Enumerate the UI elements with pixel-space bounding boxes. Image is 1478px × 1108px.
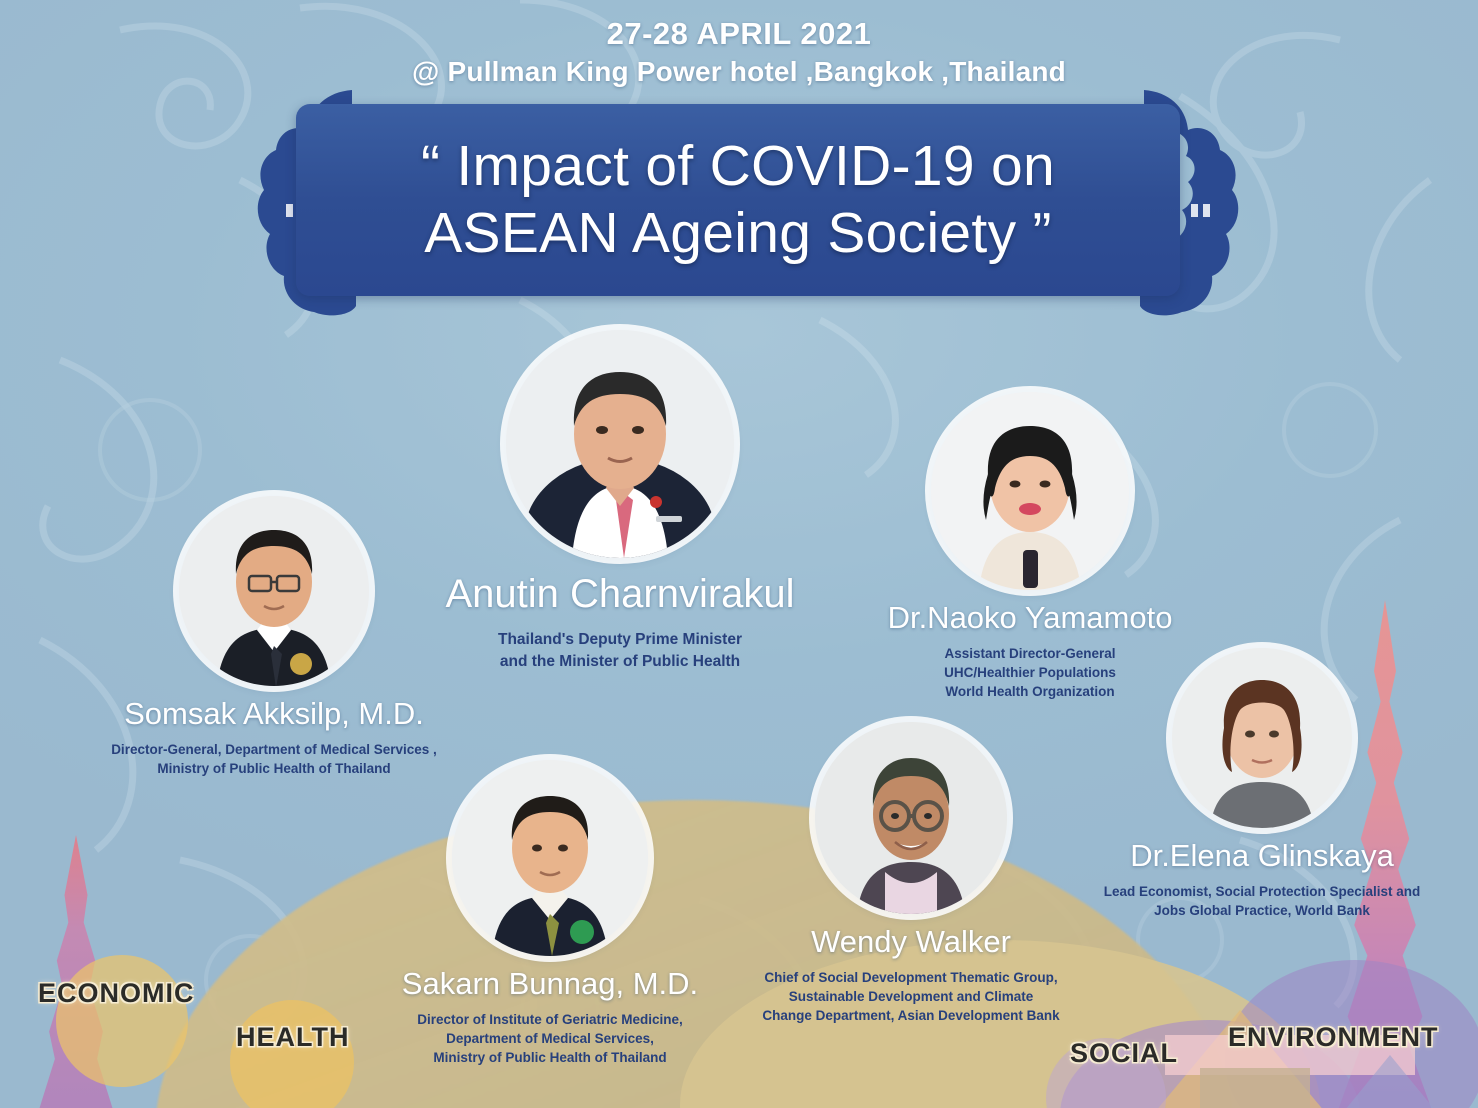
conference-poster: 27-28 APRIL 2021 @ Pullman King Power ho… — [0, 0, 1478, 1108]
speaker-card-elena-glinskaya: Dr.Elena Glinskaya Lead Economist, Socia… — [1062, 648, 1462, 920]
speaker-name-somsak-akksilp: Somsak Akksilp, M.D. — [64, 696, 484, 732]
role-line: Change Department, Asian Development Ban… — [718, 1006, 1104, 1025]
avatar-naoko-yamamoto — [931, 392, 1129, 590]
speaker-role-sakarn-bunnag: Director of Institute of Geriatric Medic… — [360, 1010, 740, 1067]
avatar-elena-glinskaya — [1172, 648, 1352, 828]
role-line: Ministry of Public Health of Thailand — [360, 1048, 740, 1067]
portrait-naoko-yamamoto — [931, 392, 1129, 590]
poster-title-line1: “ Impact of COVID-19 on — [421, 133, 1055, 200]
portrait-anutin-charnvirakul — [506, 330, 734, 558]
speaker-name-naoko-yamamoto: Dr.Naoko Yamamoto — [850, 600, 1210, 636]
role-line: Chief of Social Development Thematic Gro… — [718, 968, 1104, 987]
speaker-name-wendy-walker: Wendy Walker — [718, 924, 1104, 960]
role-line: Jobs Global Practice, World Bank — [1062, 901, 1462, 920]
event-venue: @ Pullman King Power hotel ,Bangkok ,Tha… — [0, 56, 1478, 88]
title-banner: “ Impact of COVID-19 on ASEAN Ageing Soc… — [296, 104, 1180, 296]
category-label-social: SOCIAL — [1070, 1038, 1178, 1069]
role-line: Lead Economist, Social Protection Specia… — [1062, 882, 1462, 901]
role-line: Director-General, Department of Medical … — [64, 740, 484, 759]
portrait-elena-glinskaya — [1172, 648, 1352, 828]
speaker-name-elena-glinskaya: Dr.Elena Glinskaya — [1062, 838, 1462, 874]
avatar-wendy-walker — [815, 722, 1007, 914]
event-header: 27-28 APRIL 2021 @ Pullman King Power ho… — [0, 18, 1478, 88]
category-label-economic: ECONOMIC — [38, 978, 195, 1009]
economic-label-circle — [56, 955, 188, 1087]
category-label-health: HEALTH — [236, 1022, 350, 1053]
avatar-anutin-charnvirakul — [506, 330, 734, 558]
speaker-name-sakarn-bunnag: Sakarn Bunnag, M.D. — [360, 966, 740, 1002]
portrait-somsak-akksilp — [179, 496, 369, 686]
speaker-card-sakarn-bunnag: Sakarn Bunnag, M.D. Director of Institut… — [360, 760, 740, 1067]
mauve-square-shape — [1200, 1068, 1310, 1108]
speaker-role-wendy-walker: Chief of Social Development Thematic Gro… — [718, 968, 1104, 1025]
event-date: 27-28 APRIL 2021 — [0, 18, 1478, 51]
poster-title-line2: ASEAN Ageing Society ” — [421, 200, 1055, 267]
category-label-environment: ENVIRONMENT — [1228, 1022, 1439, 1053]
portrait-sakarn-bunnag — [452, 760, 648, 956]
poster-title: “ Impact of COVID-19 on ASEAN Ageing Soc… — [409, 133, 1067, 266]
role-line: Director of Institute of Geriatric Medic… — [360, 1010, 740, 1029]
avatar-sakarn-bunnag — [452, 760, 648, 956]
speaker-card-somsak-akksilp: Somsak Akksilp, M.D. Director-General, D… — [64, 496, 484, 778]
portrait-wendy-walker — [815, 722, 1007, 914]
speaker-card-wendy-walker: Wendy Walker Chief of Social Development… — [718, 722, 1104, 1025]
avatar-somsak-akksilp — [179, 496, 369, 686]
role-line: Sustainable Development and Climate — [718, 987, 1104, 1006]
speaker-role-elena-glinskaya: Lead Economist, Social Protection Specia… — [1062, 882, 1462, 920]
role-line: Department of Medical Services, — [360, 1029, 740, 1048]
